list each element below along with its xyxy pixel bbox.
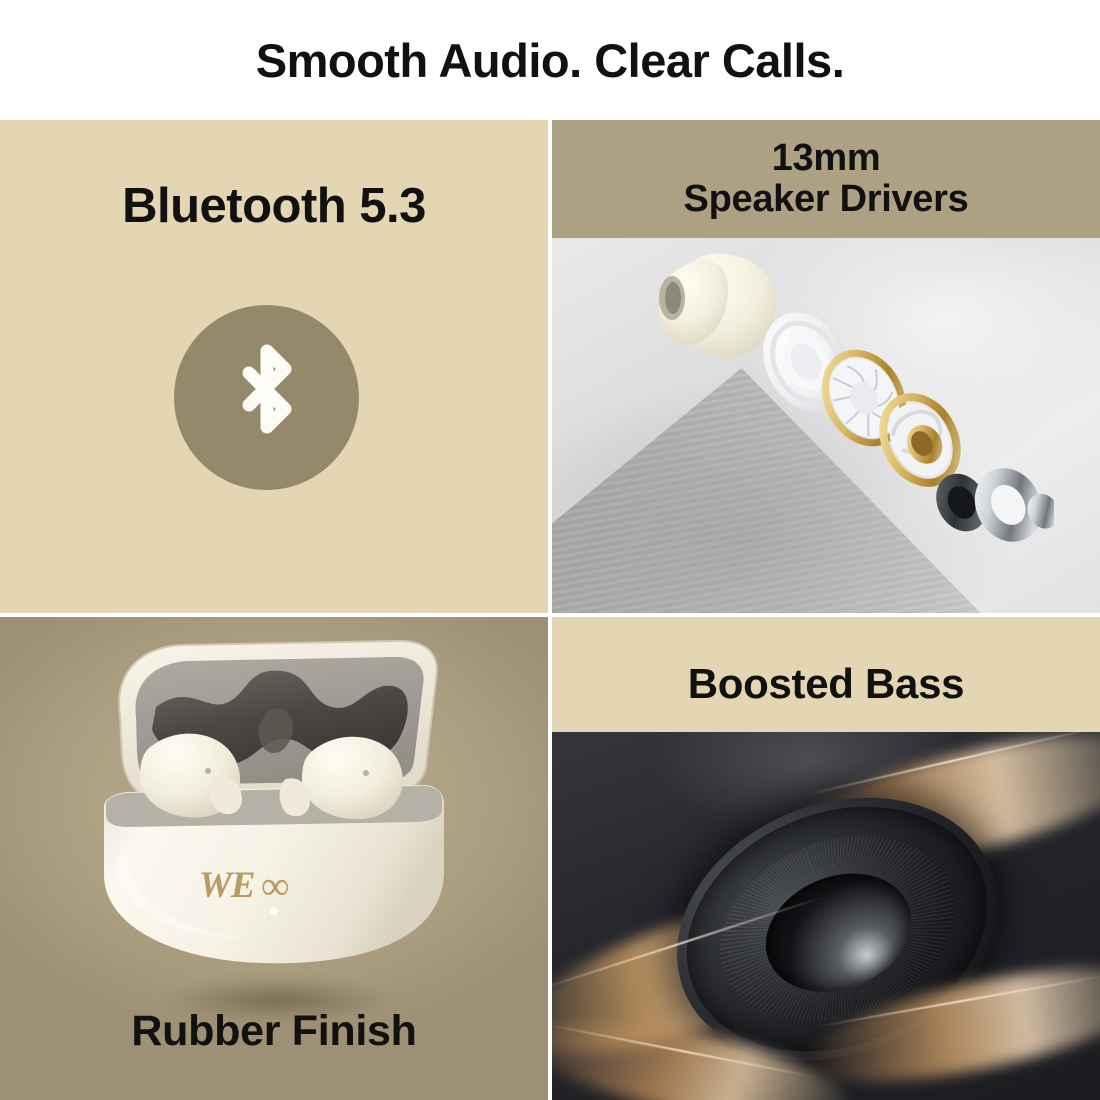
speaker-drivers-title-line1: 13mm: [772, 138, 881, 179]
speaker-drivers-heading: 13mm Speaker Drivers: [552, 120, 1100, 238]
panel-rubber-finish: WE ∞ Rubber Finish: [0, 617, 548, 1100]
boosted-bass-title: Boosted Bass: [688, 642, 964, 708]
woofer-dust-cap: [748, 852, 929, 1012]
charging-case-photo: WE ∞: [96, 637, 452, 967]
svg-text:∞: ∞: [261, 863, 290, 908]
woofer-cone: [692, 802, 982, 1056]
speaker-woofer: [637, 751, 1037, 1100]
feature-grid: Bluetooth 5.3 13mm Speaker Drivers: [0, 120, 1100, 1100]
speaker-drivers-title-line2: Speaker Drivers: [684, 179, 969, 220]
infographic-page: Smooth Audio. Clear Calls. Bluetooth 5.3…: [0, 0, 1100, 1100]
brand-logo: WE ∞: [199, 863, 349, 909]
smoke-filament-1: [806, 732, 1099, 796]
rubber-finish-caption: Rubber Finish: [0, 1007, 548, 1056]
svg-text:WE: WE: [199, 865, 255, 906]
bluetooth-icon: [219, 339, 315, 457]
bluetooth-icon-badge: [174, 305, 359, 490]
bluetooth-title: Bluetooth 5.3: [0, 178, 548, 234]
rubber-finish-stage: WE ∞ Rubber Finish: [0, 617, 548, 1100]
boosted-bass-photo: [552, 732, 1100, 1100]
panel-bluetooth: Bluetooth 5.3: [0, 120, 548, 613]
header-bar: Smooth Audio. Clear Calls.: [0, 0, 1100, 120]
page-title: Smooth Audio. Clear Calls.: [256, 37, 845, 84]
panel-speaker-drivers: 13mm Speaker Drivers: [552, 120, 1100, 613]
speaker-drivers-photo: [552, 238, 1100, 613]
panel-boosted-bass: Boosted Bass: [552, 617, 1100, 1100]
chrome-assembly-part: [924, 450, 1054, 560]
woofer-ring: [650, 763, 1024, 1094]
boosted-bass-heading: Boosted Bass: [552, 617, 1100, 732]
